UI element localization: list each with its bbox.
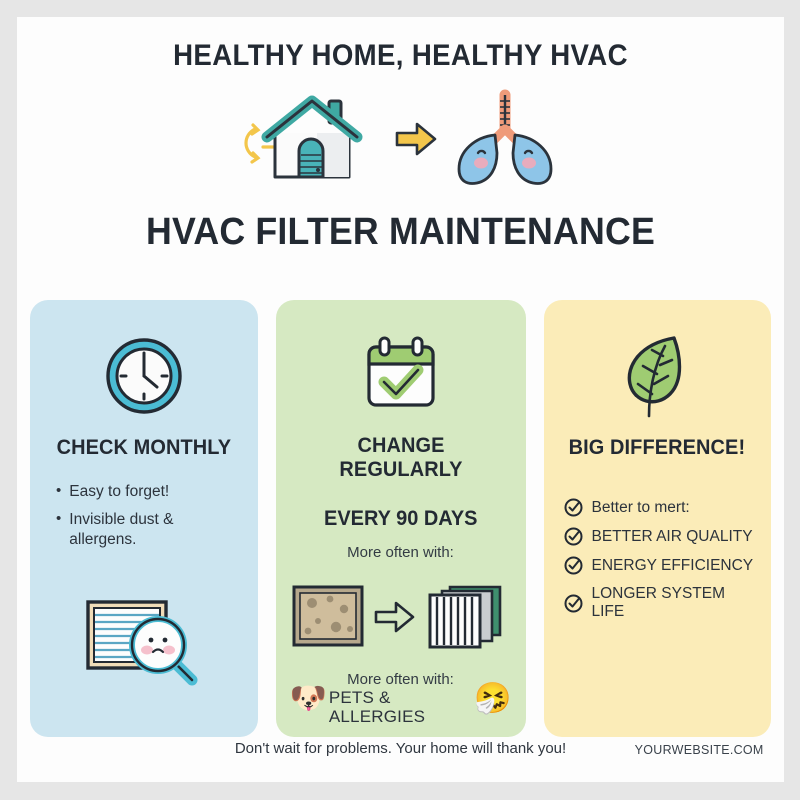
card-title: BIG DIFFERENCE! [569,436,746,460]
footer-website[interactable]: YOURWEBSITE.COM [634,742,763,757]
bullet-text: Easy to forget! [69,482,169,501]
pets-line-2: PETS & ALLERGIES [329,688,472,727]
check-circle-icon [564,594,583,613]
lungs-icon [445,89,565,189]
check-label: Better to mert: [592,499,690,517]
check-circle-icon [564,498,583,517]
arrow-right-icon [393,116,439,162]
page-title: HEALTHY HOME, HEALTHY HVAC [48,39,754,73]
bullet-dot: • [56,510,61,528]
cards-row: CHECK MONTHLY • Easy to forget! • Invisi… [30,300,771,737]
benefits-checklist: Better to mert: BETTER AIR QUALITY ENERG… [558,498,758,631]
list-item: • Easy to forget! [56,482,244,501]
calendar-check-icon [360,330,442,420]
pets-allergies-row: 🐶 More often with: PETS & ALLERGIES 🤧 [290,671,512,727]
filter-magnifier-icon [80,588,208,692]
card-title: CHANGE REGULARLY [295,434,506,482]
list-item: ENERGY EFFICIENCY [564,556,758,575]
leaf-icon [618,330,696,422]
check-label: LONGER SYSTEM LIFE [592,585,758,621]
pets-text: More often with: PETS & ALLERGIES [329,671,472,727]
check-circle-icon [564,527,583,546]
card-title: CHECK MONTHLY [56,436,231,460]
hero-illustration [17,85,784,193]
check-label: ENERGY EFFICIENCY [592,557,754,575]
clock-icon [102,330,186,422]
sneezing-face-emoji: 🤧 [474,684,511,714]
pets-line-1: More often with: [347,671,454,688]
bullet-dot: • [56,482,61,500]
bullet-list: • Easy to forget! • Invisible dust & all… [44,482,244,558]
card-subtitle: EVERY 90 DAYS [324,507,477,531]
card-note: More often with: [347,544,454,561]
card-big-difference[interactable]: BIG DIFFERENCE! Better to mert: BETTER A… [544,300,772,737]
screenshot-canvas: HEALTHY HOME, HEALTHY HVAC [0,0,800,800]
check-circle-icon [564,556,583,575]
list-item: • Invisible dust & allergens. [56,510,244,549]
clean-filter-icon [420,579,512,655]
footer: Don't wait for problems. Your home will … [17,740,784,762]
dog-emoji: 🐶 [290,684,327,714]
house-icon [237,89,387,189]
list-item: LONGER SYSTEM LIFE [564,585,758,621]
bullet-text: Invisible dust & allergens. [69,510,243,549]
infographic-page: HEALTHY HOME, HEALTHY HVAC [17,17,784,782]
page-subtitle: HVAC FILTER MAINTENANCE [40,211,761,254]
list-item: Better to mert: [564,498,758,517]
arrow-right-icon [372,595,416,639]
check-label: BETTER AIR QUALITY [592,528,753,546]
filter-swap-illustration [290,579,512,655]
list-item: BETTER AIR QUALITY [564,527,758,546]
dirty-filter-icon [290,581,368,653]
card-change-regularly[interactable]: CHANGE REGULARLY EVERY 90 DAYS More ofte… [276,300,526,737]
card-check-monthly[interactable]: CHECK MONTHLY • Easy to forget! • Invisi… [30,300,258,737]
